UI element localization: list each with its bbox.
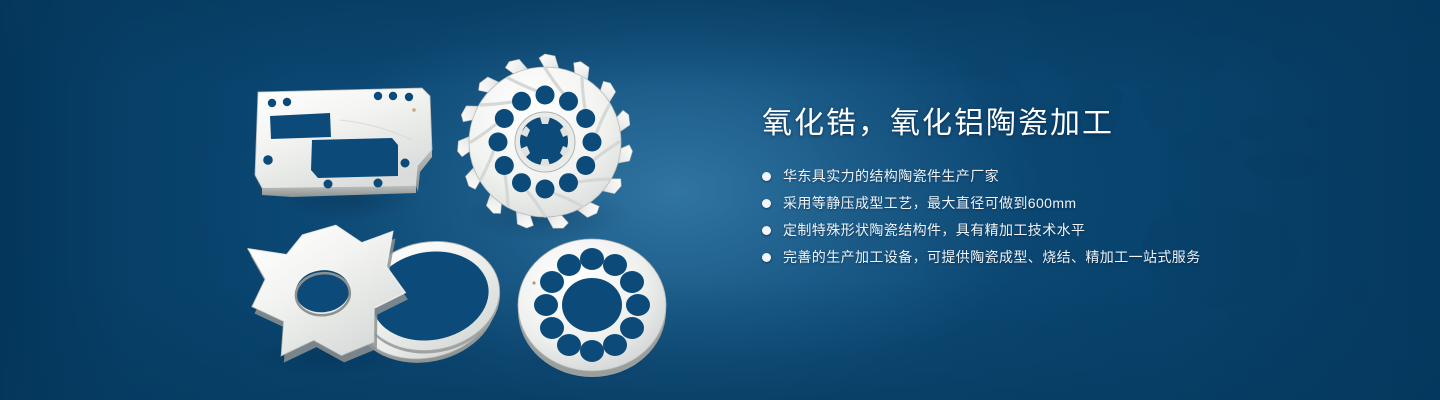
bullet-dot-icon bbox=[762, 172, 771, 181]
feature-bullet-item: 华东具实力的结构陶瓷件生产厂家 bbox=[762, 166, 1382, 187]
feature-bullet-list: 华东具实力的结构陶瓷件生产厂家 采用等静压成型工艺，最大直径可做到600mm 定… bbox=[762, 166, 1382, 268]
feature-bullet-text: 完善的生产加工设备，可提供陶瓷成型、烧结、精加工一站式服务 bbox=[783, 247, 1201, 268]
feature-bullet-item: 完善的生产加工设备，可提供陶瓷成型、烧结、精加工一站式服务 bbox=[762, 247, 1382, 268]
bullet-dot-icon bbox=[762, 253, 771, 262]
bullet-dot-icon bbox=[762, 226, 771, 235]
feature-bullet-item: 定制特殊形状陶瓷结构件，具有精加工技术水平 bbox=[762, 220, 1382, 241]
banner-copy: 氧化锆，氧化铝陶瓷加工 华东具实力的结构陶瓷件生产厂家 采用等静压成型工艺，最大… bbox=[762, 104, 1382, 274]
hero-banner: 氧化锆，氧化铝陶瓷加工 华东具实力的结构陶瓷件生产厂家 采用等静压成型工艺，最大… bbox=[0, 0, 1440, 400]
feature-bullet-text: 采用等静压成型工艺，最大直径可做到600mm bbox=[783, 193, 1076, 214]
banner-headline: 氧化锆，氧化铝陶瓷加工 bbox=[762, 104, 1382, 144]
feature-bullet-item: 采用等静压成型工艺，最大直径可做到600mm bbox=[762, 193, 1382, 214]
feature-bullet-text: 华东具实力的结构陶瓷件生产厂家 bbox=[783, 166, 999, 187]
ceramic-perforated-disc-part bbox=[518, 239, 666, 377]
bullet-dot-icon bbox=[762, 199, 771, 208]
ceramic-plate-part bbox=[255, 88, 432, 197]
ceramic-products-image bbox=[0, 0, 720, 400]
feature-bullet-text: 定制特殊形状陶瓷结构件，具有精加工技术水平 bbox=[783, 220, 1085, 241]
